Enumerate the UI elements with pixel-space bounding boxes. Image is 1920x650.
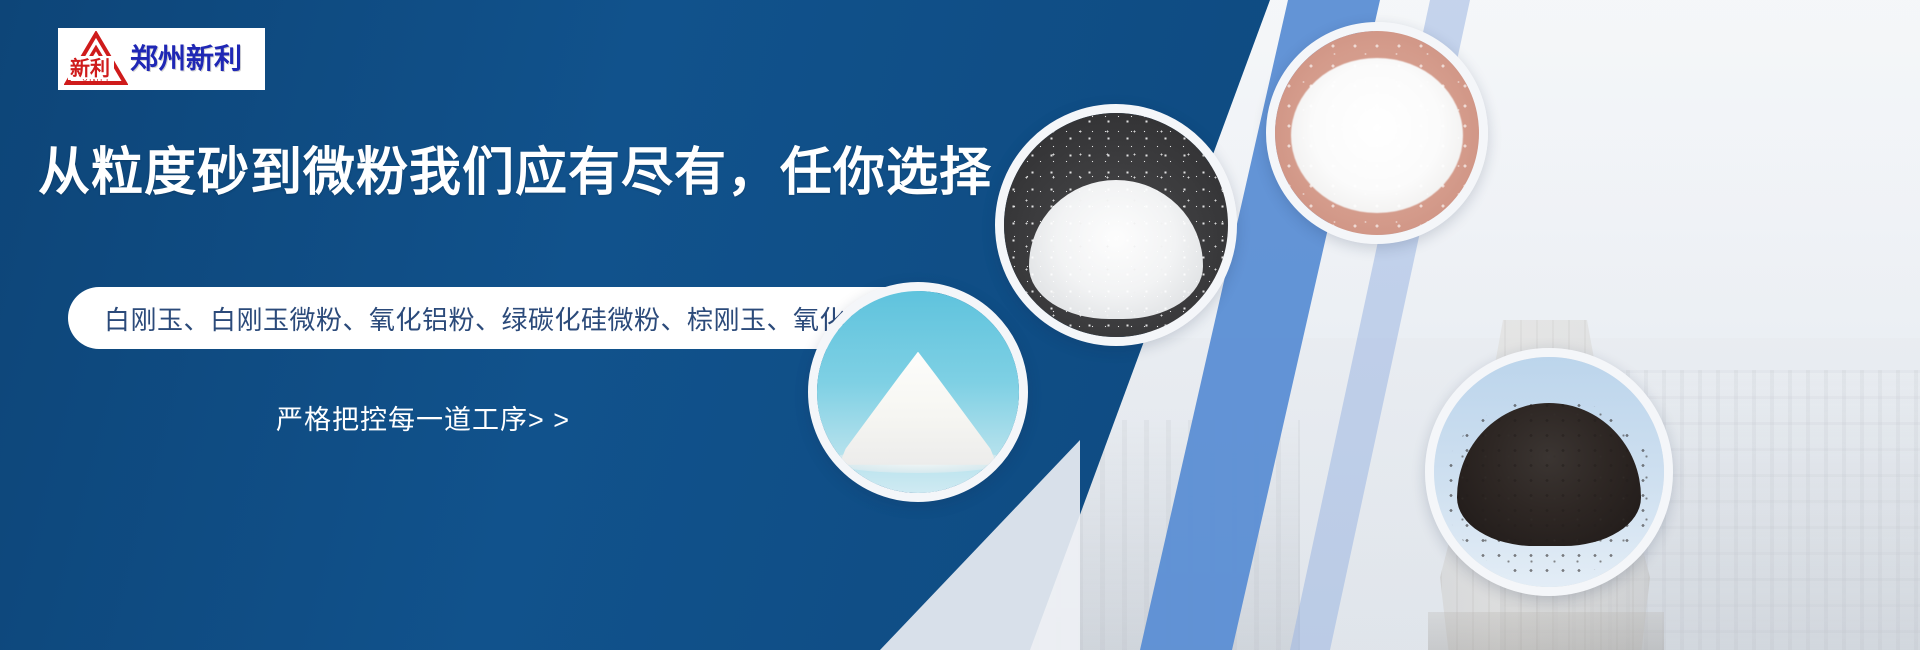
product-photo-powder-cone: [808, 282, 1028, 502]
process-tagline-link[interactable]: 严格把控每一道工序> >: [276, 398, 570, 437]
white-grain-speckles: [1004, 113, 1228, 337]
product-photo-white-grains-dish: [1004, 113, 1228, 337]
product-photo-powder-cone-bg: [817, 291, 1019, 493]
white-powder-dust: [1275, 31, 1479, 235]
xinli-triangle-logo-icon: 新利 XINLI: [64, 31, 128, 87]
headline-text: 从粒度砂到微粉我们应有尽有，任你选择: [38, 145, 992, 202]
product-photo-white-powder: [1266, 22, 1488, 244]
product-photo-dark-granules: [1425, 348, 1673, 596]
product-photo-white-grains: [995, 104, 1237, 346]
product-list-pill[interactable]: 白刚玉、白刚玉微粉、氧化铝粉、绿碳化硅微粉、棕刚玉、氧化锆等: [68, 287, 935, 349]
product-photo-dark-granules-bg: [1434, 357, 1664, 587]
promo-banner: 新利 XINLI 郑州新利 从粒度砂到微粉我们应有尽有，任你选择 白刚玉、白刚玉…: [0, 0, 1920, 650]
product-photo-white-powder-dish: [1275, 31, 1479, 235]
svg-text:新利: 新利: [70, 56, 110, 80]
powder-cone-shape: [839, 352, 997, 465]
company-logo[interactable]: 新利 XINLI 郑州新利: [58, 28, 265, 90]
svg-text:XINLI: XINLI: [82, 78, 110, 87]
logo-company-name: 郑州新利: [130, 45, 242, 73]
product-list-text: 白刚玉、白刚玉微粉、氧化铝粉、绿碳化硅微粉、棕刚玉、氧化锆等: [104, 300, 899, 337]
dark-granule-speckles: [1443, 398, 1655, 577]
